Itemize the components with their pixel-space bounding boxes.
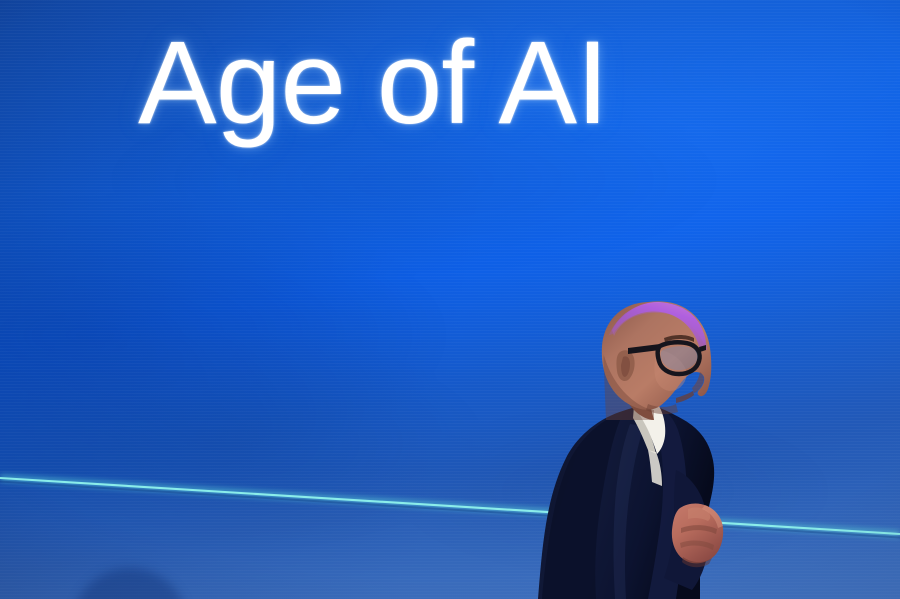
- speaker-suit: [538, 404, 714, 599]
- speaker-head: [600, 301, 711, 420]
- keynote-speaker: [0, 0, 900, 599]
- stage-photo: Age of AI: [0, 0, 900, 599]
- mouth-line: [676, 391, 694, 403]
